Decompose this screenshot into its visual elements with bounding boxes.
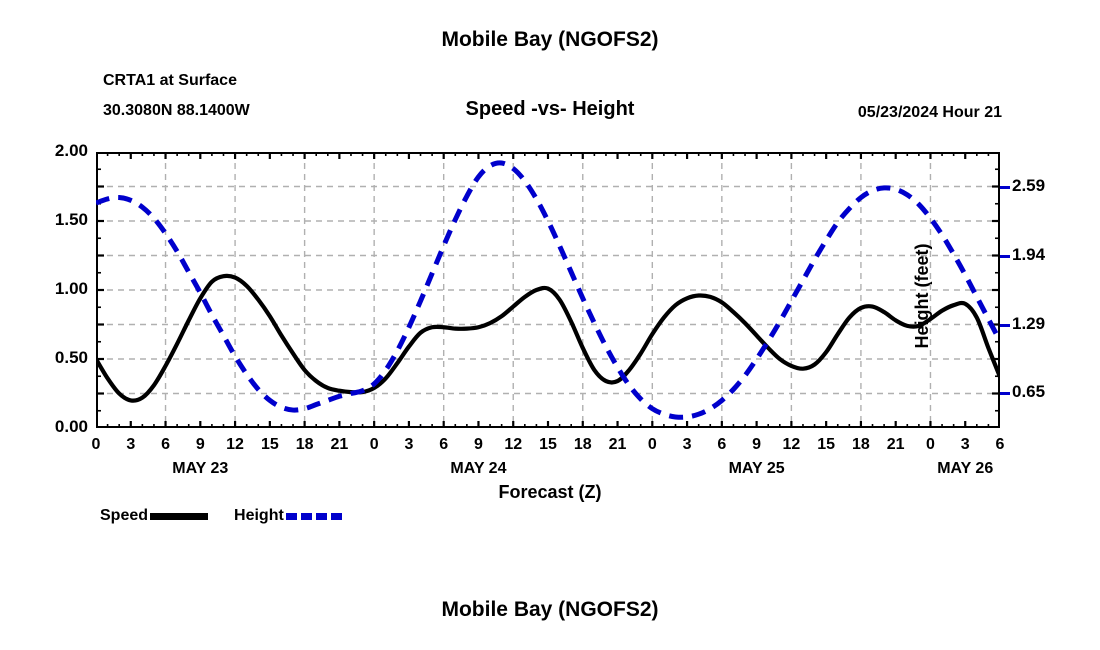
x-tick-label: 21: [605, 436, 631, 454]
page-title: Mobile Bay (NGOFS2): [0, 28, 1100, 52]
y-tick-mark-right: [1000, 392, 1010, 395]
x-tick-label: 18: [292, 436, 318, 454]
x-tick-label: 18: [570, 436, 596, 454]
y-tick-mark-right: [1000, 186, 1010, 189]
y-tick-label-left: 1.50: [55, 210, 88, 230]
x-tick-label: 9: [465, 436, 491, 454]
y-tick-label-right: 0.65: [1012, 382, 1045, 402]
x-tick-label: 12: [500, 436, 526, 454]
x-tick-label: 6: [709, 436, 735, 454]
x-tick-label: 6: [987, 436, 1013, 454]
legend-entry-height[interactable]: Height: [234, 507, 344, 525]
legend-label: Height: [234, 507, 284, 525]
x-axis-day-label: MAY 26: [900, 460, 1030, 478]
station-name: CRTA1 at Surface: [103, 72, 237, 90]
legend-entry-speed[interactable]: Speed: [100, 507, 208, 525]
y-tick-label-right: 1.94: [1012, 245, 1045, 265]
y-tick-label-left: 0.00: [55, 417, 88, 437]
x-tick-label: 15: [813, 436, 839, 454]
y-tick-label-left: 2.00: [55, 141, 88, 161]
x-tick-label: 0: [639, 436, 665, 454]
x-tick-label: 0: [83, 436, 109, 454]
x-axis-day-label: MAY 24: [413, 460, 543, 478]
footer-title: Mobile Bay (NGOFS2): [0, 598, 1100, 622]
y-tick-label-right: 1.29: [1012, 314, 1045, 334]
x-tick-label: 12: [778, 436, 804, 454]
x-tick-label: 3: [396, 436, 422, 454]
y-tick-label-right: 2.59: [1012, 176, 1045, 196]
series-line-speed: [96, 276, 1000, 401]
x-tick-label: 0: [917, 436, 943, 454]
x-tick-label: 6: [153, 436, 179, 454]
x-tick-label: 6: [431, 436, 457, 454]
y-tick-mark-right: [1000, 255, 1010, 258]
x-tick-label: 3: [674, 436, 700, 454]
chart-page: Mobile Bay (NGOFS2) CRTA1 at Surface 30.…: [0, 0, 1100, 650]
x-axis-title: Forecast (Z): [0, 482, 1100, 503]
y-tick-mark-right: [1000, 324, 1010, 327]
legend-swatch-speed: [150, 513, 208, 520]
plot-area: [96, 152, 1000, 428]
x-tick-label: 9: [744, 436, 770, 454]
model-run-stamp: 05/23/2024 Hour 21: [858, 104, 1002, 122]
x-tick-label: 12: [222, 436, 248, 454]
x-tick-label: 3: [952, 436, 978, 454]
x-tick-label: 18: [848, 436, 874, 454]
x-tick-label: 3: [118, 436, 144, 454]
legend-label: Speed: [100, 507, 148, 525]
y-tick-label-left: 1.00: [55, 279, 88, 299]
x-tick-label: 15: [535, 436, 561, 454]
x-axis-day-label: MAY 23: [135, 460, 265, 478]
x-tick-label: 15: [257, 436, 283, 454]
legend-swatch-height: [286, 513, 344, 520]
plot-svg: [96, 152, 1000, 428]
x-tick-label: 0: [361, 436, 387, 454]
chart-legend: SpeedHeight: [100, 507, 344, 525]
y-tick-label-left: 0.50: [55, 348, 88, 368]
x-axis-day-label: MAY 25: [692, 460, 822, 478]
x-tick-label: 21: [883, 436, 909, 454]
x-tick-label: 21: [326, 436, 352, 454]
x-tick-label: 9: [187, 436, 213, 454]
